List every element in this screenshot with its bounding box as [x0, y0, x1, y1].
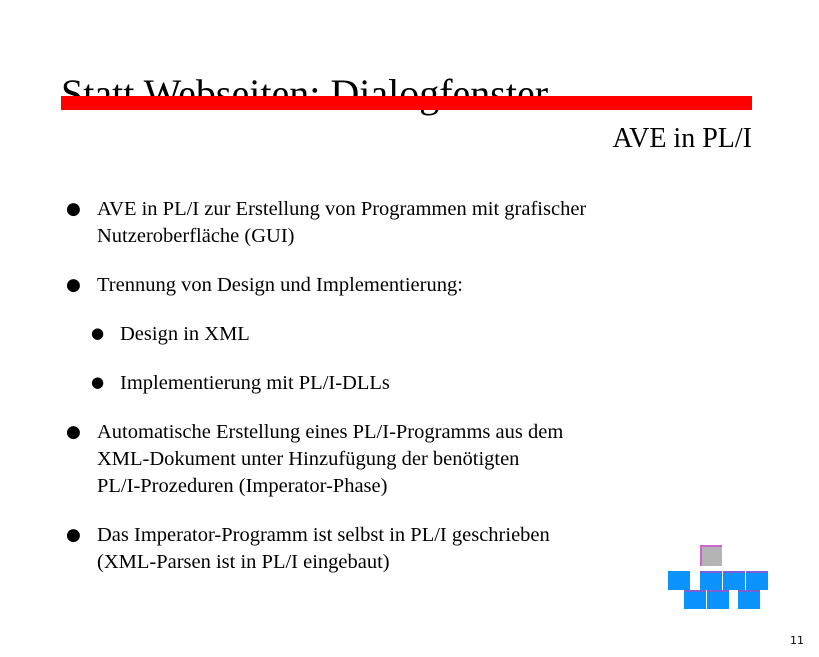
- bullet-text: Automatische Erstellung eines PL/I-Progr…: [97, 419, 819, 500]
- bullet-text: Trennung von Design und Implementierung:: [97, 272, 819, 299]
- slide-subtitle: AVE in PL/I: [61, 122, 752, 156]
- bullet-item-level1: ●Trennung von Design und Implementierung…: [0, 272, 819, 299]
- bullet-text: Design in XML: [120, 321, 819, 348]
- blue-square-5: [684, 590, 706, 609]
- blue-square-7: [738, 590, 760, 609]
- bullet-text-line: Nutzeroberfläche (GUI): [97, 223, 819, 250]
- bullet-item-level2: ●Implementierung mit PL/I-DLLs: [0, 370, 819, 397]
- bullet-text-line: XML-Dokument unter Hinzufügung der benöt…: [97, 446, 819, 473]
- bullet-text: Implementierung mit PL/I-DLLs: [120, 370, 819, 397]
- decorative-logo: [668, 545, 763, 607]
- gray-square: [700, 545, 722, 566]
- bullet-text: AVE in PL/I zur Erstellung von Programme…: [97, 196, 819, 250]
- bullet-disc-icon: ●: [66, 277, 81, 294]
- bullet-text-line: PL/I-Prozeduren (Imperator-Phase): [97, 473, 819, 500]
- blue-square-6: [707, 590, 729, 609]
- bullet-text-line: Design in XML: [120, 321, 819, 348]
- bullet-text-line: Implementierung mit PL/I-DLLs: [120, 370, 819, 397]
- blue-square-3: [723, 571, 745, 590]
- title-underline-rule: [61, 96, 752, 110]
- bullet-text-line: Trennung von Design und Implementierung:: [97, 272, 819, 299]
- bullet-list: ●AVE in PL/I zur Erstellung von Programm…: [0, 196, 819, 598]
- bullet-item-level2: ●Design in XML: [0, 321, 819, 348]
- bullet-item-level1: ●AVE in PL/I zur Erstellung von Programm…: [0, 196, 819, 250]
- bullet-disc-icon: ●: [91, 326, 104, 341]
- bullet-disc-icon: ●: [91, 375, 104, 390]
- bullet-item-level1: ●Automatische Erstellung eines PL/I-Prog…: [0, 419, 819, 500]
- blue-square-2: [700, 571, 722, 590]
- blue-square-4: [746, 571, 768, 590]
- presentation-slide: Statt Webseiten: Dialogfenster AVE in PL…: [0, 0, 819, 657]
- page-number: 11: [790, 634, 804, 647]
- bullet-disc-icon: ●: [66, 201, 81, 218]
- bullet-text-line: AVE in PL/I zur Erstellung von Programme…: [97, 196, 819, 223]
- bullet-text-line: Automatische Erstellung eines PL/I-Progr…: [97, 419, 819, 446]
- blue-square-1: [668, 571, 690, 590]
- bullet-disc-icon: ●: [66, 527, 81, 544]
- bullet-disc-icon: ●: [66, 424, 81, 441]
